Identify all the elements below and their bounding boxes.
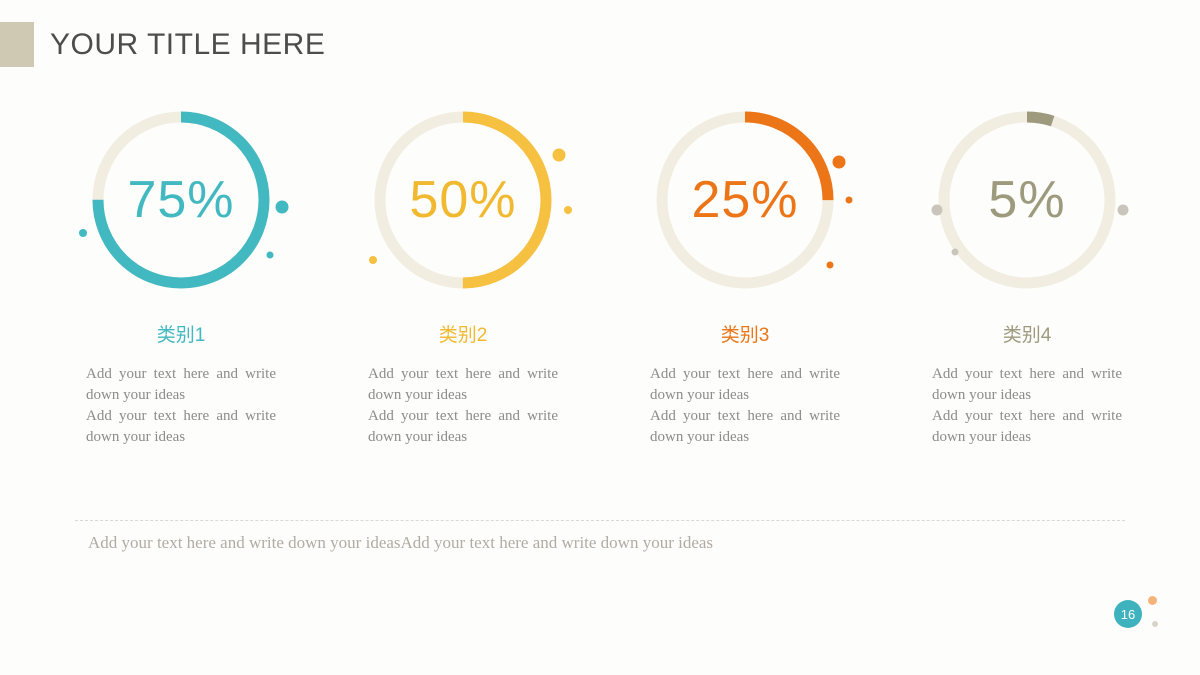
donut-ring-2: 50% [353,100,573,310]
donut-ring-3: 25% [635,100,855,310]
donut-chart-group: 75% 类别1 Add your text here and write dow… [40,100,1170,448]
title-accent-swatch [0,22,34,67]
decor-dot-orange [1148,596,1157,605]
footer-note: Add your text here and write down your i… [88,533,713,553]
donut-description-1-line-2: Add your text here and write down your i… [86,406,276,448]
donut-item-4: 5% 类别4 Add your text here and write down… [886,100,1168,448]
donut-description-1: Add your text here and write down your i… [86,364,276,448]
donut-percent-1: 75% [71,100,291,300]
donut-percent-3: 25% [635,100,855,300]
donut-ring-1: 75% [71,100,291,310]
donut-description-2: Add your text here and write down your i… [368,364,558,448]
page-number-badge: 16 [1114,600,1142,628]
donut-category-label-1: 类别1 [157,320,206,347]
donut-description-4-line-2: Add your text here and write down your i… [932,406,1122,448]
donut-description-4-line-1: Add your text here and write down your i… [932,364,1122,406]
donut-item-3: 25% 类别3 Add your text here and write dow… [604,100,886,448]
donut-ring-4: 5% [917,100,1137,310]
donut-category-label-2: 类别2 [439,320,488,347]
donut-category-label-3: 类别3 [721,320,770,347]
page-title-block: YOUR TITLE HERE [0,22,325,67]
donut-description-4: Add your text here and write down your i… [932,364,1122,448]
donut-description-3-line-2: Add your text here and write down your i… [650,406,840,448]
donut-description-3-line-1: Add your text here and write down your i… [650,364,840,406]
donut-description-1-line-1: Add your text here and write down your i… [86,364,276,406]
page-title: YOUR TITLE HERE [50,28,325,62]
donut-description-2-line-2: Add your text here and write down your i… [368,406,558,448]
footer-divider [75,520,1125,521]
donut-description-3: Add your text here and write down your i… [650,364,840,448]
donut-description-2-line-1: Add your text here and write down your i… [368,364,558,406]
decor-dot-gray [1152,621,1158,627]
donut-category-label-4: 类别4 [1003,320,1052,347]
donut-percent-4: 5% [917,100,1137,300]
donut-item-2: 50% 类别2 Add your text here and write dow… [322,100,604,448]
donut-percent-2: 50% [353,100,573,300]
donut-item-1: 75% 类别1 Add your text here and write dow… [40,100,322,448]
